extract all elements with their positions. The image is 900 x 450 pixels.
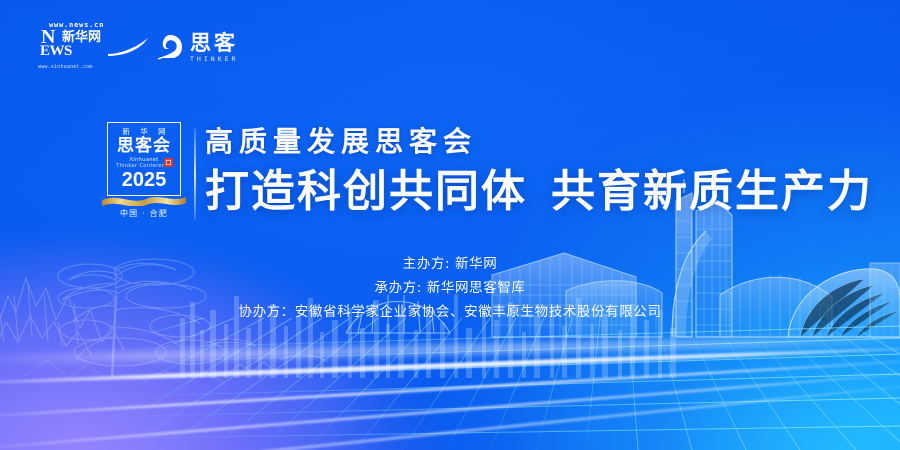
sike-logo-cjk: 思客	[190, 32, 238, 54]
red-seal-icon	[164, 158, 173, 167]
sike-spiral-icon	[156, 33, 184, 61]
emblem-brand: 新 华 网	[118, 127, 169, 136]
sike-logo-text: 思客 THINKER	[190, 32, 238, 63]
emblem-name: 思客会	[117, 137, 171, 156]
xinhuanet-news-mark: EWS	[40, 45, 72, 58]
organizer-coorganizer: 协办方：安徽省科学家企业家协会、安徽丰原生物技术股份有限公司	[0, 300, 900, 324]
conference-poster: www.news.cn N 新华网 EWS www.xinhuanet.com …	[0, 0, 900, 450]
xinhuanet-url-top: www.news.cn	[49, 21, 104, 29]
organizer-host: 主办方: 新华网	[0, 252, 900, 276]
conference-emblem: 新 华 网 思客会 Xinhuanet Thinker Conference 2…	[102, 122, 186, 226]
title-divider	[194, 128, 196, 220]
xinhuanet-url-bottom: www.xinhuanet.com	[38, 64, 93, 70]
sike-thinker-logo[interactable]: 思客 THINKER	[156, 26, 256, 68]
sike-logo-en: THINKER	[190, 55, 238, 63]
organizer-undertaker: 承办方: 新华网思客智库	[0, 276, 900, 300]
emblem-year: 2025	[122, 170, 167, 190]
headline-title: 打造科创共同体共育新质生产力	[205, 166, 873, 218]
kicker-title: 高质量发展思客会	[205, 126, 873, 158]
header-logos: www.news.cn N 新华网 EWS www.xinhuanet.com …	[38, 22, 256, 68]
headline-part-2: 共育新质生产力	[551, 166, 873, 217]
swoosh-icon	[108, 38, 148, 56]
organizer-list: 主办方: 新华网 承办方: 新华网思客智库 协办方：安徽省科学家企业家协会、安徽…	[0, 252, 900, 324]
headline-part-1: 打造科创共同体	[205, 166, 527, 217]
xinhuanet-logo[interactable]: www.news.cn N 新华网 EWS www.xinhuanet.com	[38, 22, 130, 68]
emblem-box: 新 华 网 思客会 Xinhuanet Thinker Conference 2…	[107, 122, 181, 196]
emblem-city: 中国 · 合肥	[120, 208, 168, 219]
title-block: 高质量发展思客会 打造科创共同体共育新质生产力	[205, 126, 873, 218]
